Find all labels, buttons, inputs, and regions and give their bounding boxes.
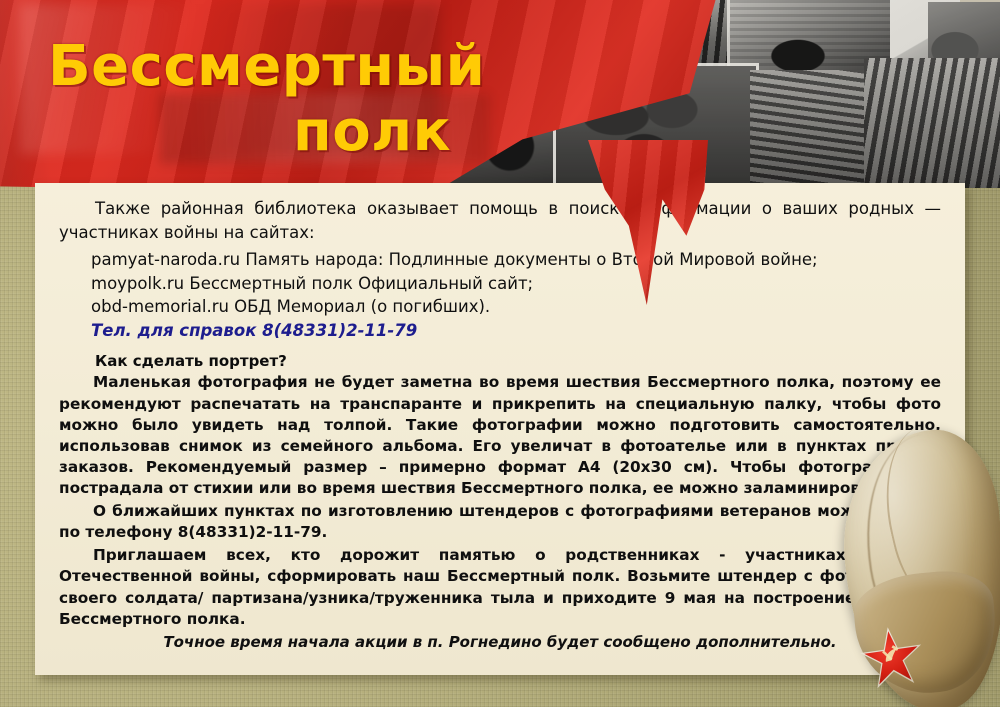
body-paragraph-2-text: О ближайших пунктах по изготовлению штен… (59, 502, 941, 541)
sites-list: pamyat-naroda.ru Память народа: Подлинны… (59, 248, 941, 318)
site-item-moypolk: moypolk.ru Бессмертный полк Официальный … (91, 272, 941, 295)
content-panel: Также районная библиотека оказывает помо… (35, 183, 965, 675)
body-paragraph-3: Приглашаем всех, кто дорожит памятью о р… (59, 545, 941, 629)
poster: Бессмертный полк Также районная библиоте… (0, 0, 1000, 707)
body-paragraph-1: Маленькая фотография не будет заметна во… (59, 372, 941, 499)
body-paragraph-2: О ближайших пунктах по изготовлению штен… (59, 501, 941, 543)
poster-title-line2: полк (293, 103, 451, 160)
site-item-obd-memorial: obd-memorial.ru ОБД Мемориал (о погибших… (91, 295, 941, 318)
site-item-pamyat-naroda: pamyat-naroda.ru Память народа: Подлинны… (91, 248, 941, 271)
howto-heading: Как сделать портрет? (95, 352, 941, 370)
poster-title: Бессмертный полк (0, 0, 470, 188)
body-paragraph-1-text: Маленькая фотография не будет заметна во… (59, 373, 941, 497)
hammer-and-sickle-icon (878, 641, 905, 668)
closing-line: Точное время начала акции в п. Рогнедино… (59, 633, 941, 651)
lead-paragraph-text: Также районная библиотека оказывает помо… (59, 199, 941, 242)
phone-info: Тел. для справок 8(48331)2-11-79 (91, 321, 941, 340)
lead-paragraph: Также районная библиотека оказывает помо… (59, 197, 941, 244)
poster-title-line1: Бессмертный (48, 38, 485, 95)
pilotka-cap (836, 417, 1000, 707)
body-paragraph-3-text: Приглашаем всех, кто дорожит памятью о р… (59, 546, 941, 627)
header-banner: Бессмертный полк (0, 0, 1000, 188)
